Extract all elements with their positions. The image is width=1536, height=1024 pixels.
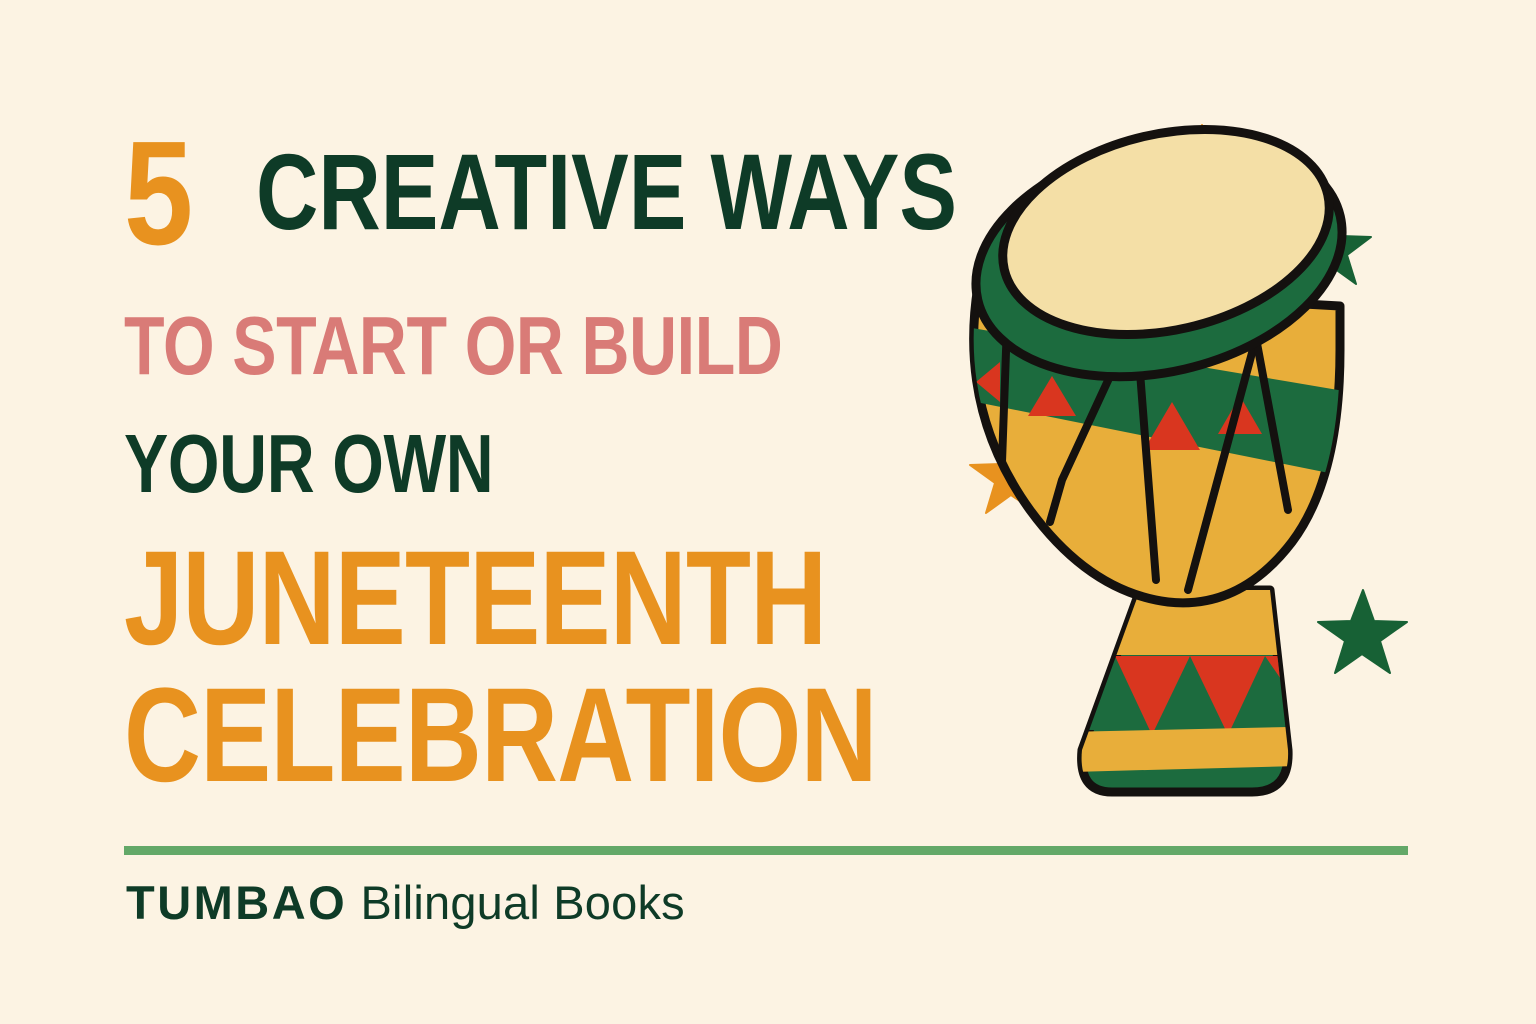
- headline-line-1: CREATIVE WAYS: [256, 138, 957, 246]
- headline-line-4: JUNETEENTH: [124, 532, 826, 666]
- drum-base-pattern: [1050, 580, 1336, 772]
- djembe-drum: [952, 110, 1366, 792]
- footer-brand-lockup: TUMBAO Bilingual Books: [126, 879, 685, 926]
- headline-line-5: CELEBRATION: [124, 669, 877, 803]
- brand-tagline: Bilingual Books: [347, 876, 685, 929]
- divider-rule: [124, 846, 1408, 855]
- star-green-lower-right: [1318, 590, 1407, 673]
- headline-number: 5: [124, 120, 191, 268]
- headline-line-2: TO START OR BUILD: [124, 304, 782, 387]
- headline-line-3: YOUR OWN: [124, 422, 493, 505]
- artwork-group: [940, 110, 1460, 820]
- poster-canvas: 5 CREATIVE WAYS TO START OR BUILD YOUR O…: [0, 0, 1536, 1024]
- brand-name: TUMBAO: [126, 876, 347, 929]
- drum-base: [1050, 580, 1336, 792]
